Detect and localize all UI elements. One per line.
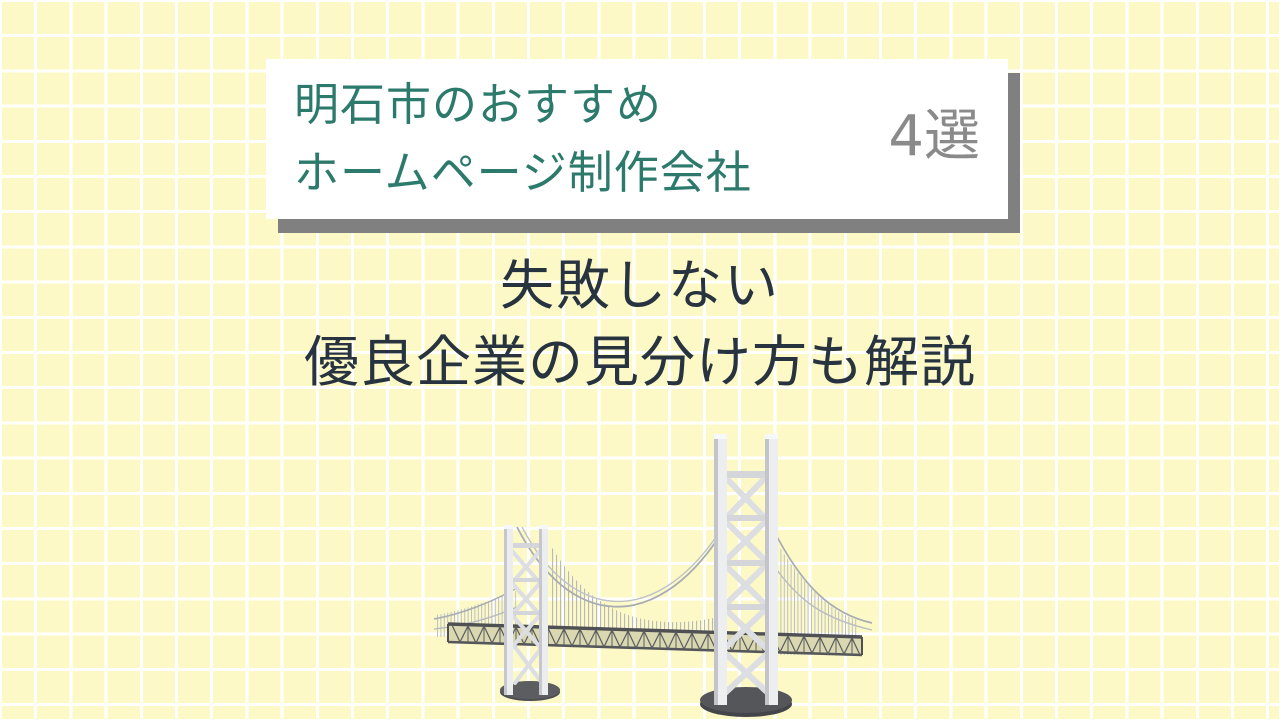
subtitle-line-1: 失敗しない [0,248,1280,324]
title-text-block: 明石市のおすすめ ホームページ制作会社 [294,71,888,207]
title-card-surface: 明石市のおすすめ ホームページ制作会社 4選 [266,59,1008,219]
eyecatch-canvas: 明石市のおすすめ ホームページ制作会社 4選 失敗しない 優良企業の見分け方も解… [0,0,1280,720]
title-line-2: ホームページ制作会社 [294,139,888,207]
subtitle-line-2: 優良企業の見分け方も解説 [0,324,1280,400]
title-line-1: 明石市のおすすめ [294,71,888,139]
akashi-kaikyo-bridge-illustration [420,415,890,720]
subtitle-block: 失敗しない 優良企業の見分け方も解説 [0,248,1280,400]
title-count-badge: 4選 [888,109,984,169]
title-card: 明石市のおすすめ ホームページ制作会社 4選 [266,59,1008,219]
